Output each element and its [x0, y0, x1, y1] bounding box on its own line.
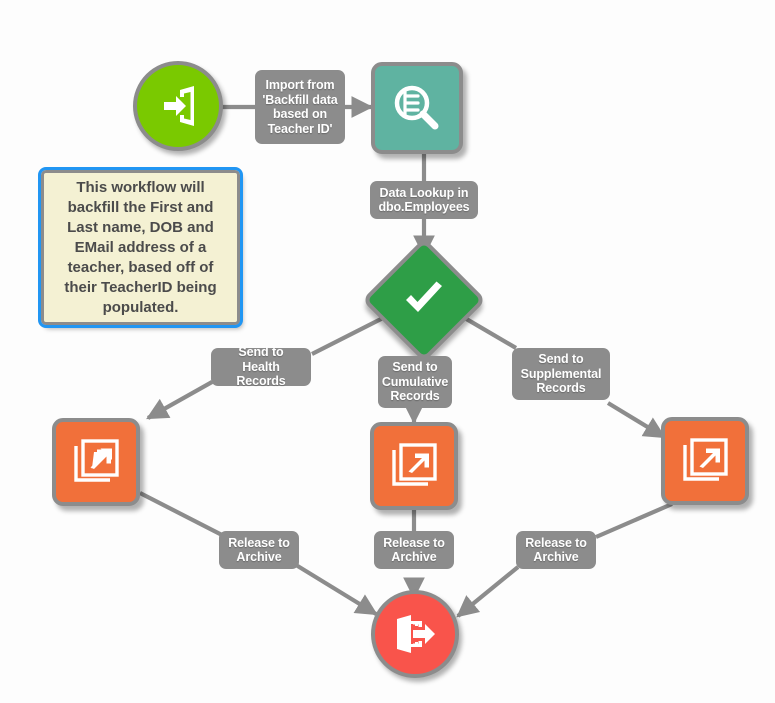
- end-node[interactable]: [371, 590, 459, 678]
- checkmark-icon: [397, 273, 451, 327]
- workflow-note[interactable]: This workflow will backfill the First an…: [41, 170, 240, 325]
- edge-supplemental-label-to-node: [608, 403, 664, 437]
- edge-label-data-lookup[interactable]: Data Lookup in dbo.Employees: [370, 181, 478, 219]
- send-export-icon: [679, 435, 731, 487]
- edge-label-import[interactable]: Import from 'Backfill data based on Teac…: [255, 70, 345, 144]
- edge-health-label-to-node: [148, 382, 212, 418]
- send-health-records-node[interactable]: [52, 418, 140, 506]
- door-exit-icon: [391, 610, 439, 658]
- send-supplemental-records-node[interactable]: [661, 417, 749, 505]
- data-lookup-node[interactable]: [371, 62, 463, 154]
- edge-label-release-archive-center[interactable]: Release to Archive: [374, 531, 454, 569]
- send-export-icon: [70, 436, 122, 488]
- edge-label-send-cumulative[interactable]: Send to Cumulative Records: [378, 356, 452, 408]
- workflow-diagram-canvas: This workflow will backfill the First an…: [0, 0, 775, 703]
- edge-label-send-health[interactable]: Send to Health Records: [211, 348, 311, 386]
- start-node[interactable]: [133, 61, 223, 151]
- send-cumulative-records-node[interactable]: [370, 422, 458, 510]
- edge-supplemental-to-release-right: [596, 504, 672, 537]
- edge-release-left-to-end: [296, 565, 376, 614]
- workflow-note-text: This workflow will backfill the First an…: [44, 178, 237, 318]
- edge-label-release-archive-right[interactable]: Release to Archive: [516, 531, 596, 569]
- edge-health-to-release-left: [140, 493, 222, 535]
- data-lookup-magnifier-icon: [390, 81, 444, 135]
- edge-decision-to-health-label: [312, 317, 385, 354]
- decision-node[interactable]: [362, 238, 486, 362]
- edge-label-release-archive-left[interactable]: Release to Archive: [219, 531, 299, 569]
- edge-label-send-supplemental[interactable]: Send to Supplemental Records: [512, 348, 610, 400]
- edge-release-right-to-end: [458, 567, 518, 616]
- edge-decision-to-supplemental-label: [463, 317, 516, 348]
- door-enter-icon: [154, 82, 202, 130]
- send-export-icon: [388, 440, 440, 492]
